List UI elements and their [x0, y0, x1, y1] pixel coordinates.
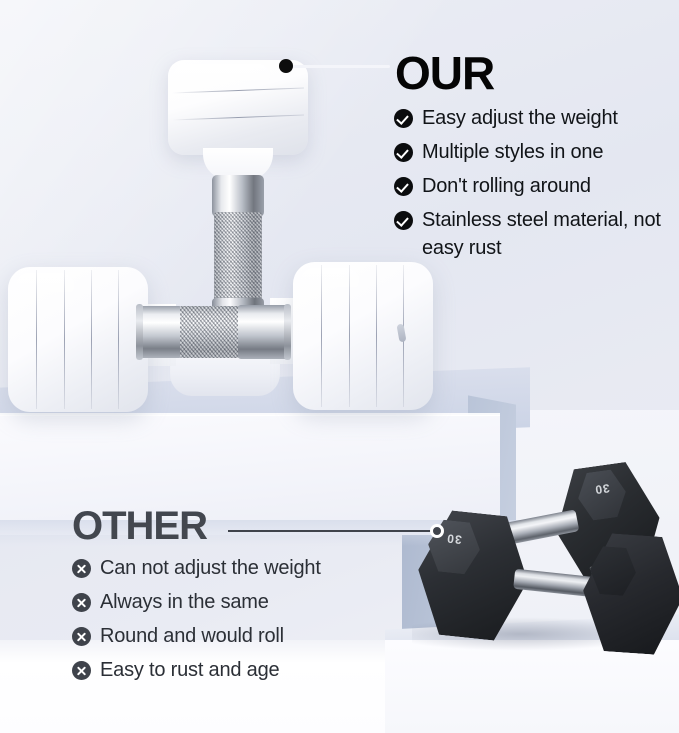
plate-seam-line — [321, 265, 322, 407]
other-title: OTHER — [72, 505, 402, 547]
list-item: Can not adjust the weight — [72, 554, 402, 582]
our-leader-dot — [279, 59, 293, 73]
check-circle-icon — [394, 109, 413, 128]
other-feature-list: Can not adjust the weight Always in the … — [72, 554, 402, 684]
check-circle-icon — [394, 211, 413, 230]
chrome-section-right — [238, 305, 288, 359]
list-item: Round and would roll — [72, 622, 402, 650]
plate-seam-line — [118, 270, 119, 409]
cross-circle-icon — [72, 593, 91, 612]
plate-gloss — [174, 64, 270, 86]
chrome-section-left — [140, 306, 182, 358]
list-item-label: Round and would roll — [100, 625, 284, 647]
list-item-label: Can not adjust the weight — [100, 557, 321, 579]
plate-seam-line — [172, 87, 304, 93]
weight-plate-stack-right — [293, 262, 433, 410]
list-item: Don't rolling around — [394, 172, 679, 200]
cross-circle-icon — [72, 627, 91, 646]
list-item: Easy adjust the weight — [394, 104, 679, 132]
plate-seam-line — [36, 270, 37, 409]
other-section: OTHER Can not adjust the weight Always i… — [72, 505, 402, 690]
plate-gloss — [16, 273, 74, 299]
cross-circle-icon — [72, 661, 91, 680]
plate-seam-line — [172, 114, 304, 120]
list-item-label: Multiple styles in one — [422, 141, 603, 163]
list-item-label: Easy adjust the weight — [422, 107, 618, 129]
plate-seam-line — [91, 270, 92, 409]
dumbbell-weight-plate-stack — [168, 60, 308, 155]
list-item-label: Easy to rust and age — [100, 659, 279, 681]
plate-seam-line — [349, 265, 350, 407]
list-item: Always in the same — [72, 588, 402, 616]
black-hex-dumbbell-group: 30 30 — [418, 465, 679, 660]
plate-gloss — [301, 268, 359, 294]
comparison-graphic: 30 30 OUR Easy adjust the weight Multipl… — [0, 0, 679, 733]
collar-ring-left — [136, 304, 143, 360]
collar-ring-right — [284, 304, 291, 360]
plate-seam-line — [376, 265, 377, 407]
knurled-grip — [180, 306, 240, 358]
check-circle-icon — [394, 177, 413, 196]
check-circle-icon — [394, 143, 413, 162]
list-item: Multiple styles in one — [394, 138, 679, 166]
plate-seam-line — [64, 270, 65, 409]
our-title: OUR — [395, 50, 679, 96]
chrome-shaft-upper — [212, 175, 264, 217]
our-section: OUR Easy adjust the weight Multiple styl… — [394, 50, 679, 268]
white-dumbbell-horizontal — [8, 262, 433, 417]
list-item-label: Always in the same — [100, 591, 269, 613]
list-item-label: Stainless steel material, not easy rust — [422, 209, 661, 259]
weight-plate-stack-left — [8, 267, 148, 412]
list-item: Stainless steel material, not easy rust — [394, 206, 679, 262]
cross-circle-icon — [72, 559, 91, 578]
list-item: Easy to rust and age — [72, 656, 402, 684]
our-leader-line — [292, 65, 390, 68]
other-leader-dot — [430, 524, 444, 538]
our-feature-list: Easy adjust the weight Multiple styles i… — [394, 104, 679, 262]
list-item-label: Don't rolling around — [422, 175, 591, 197]
